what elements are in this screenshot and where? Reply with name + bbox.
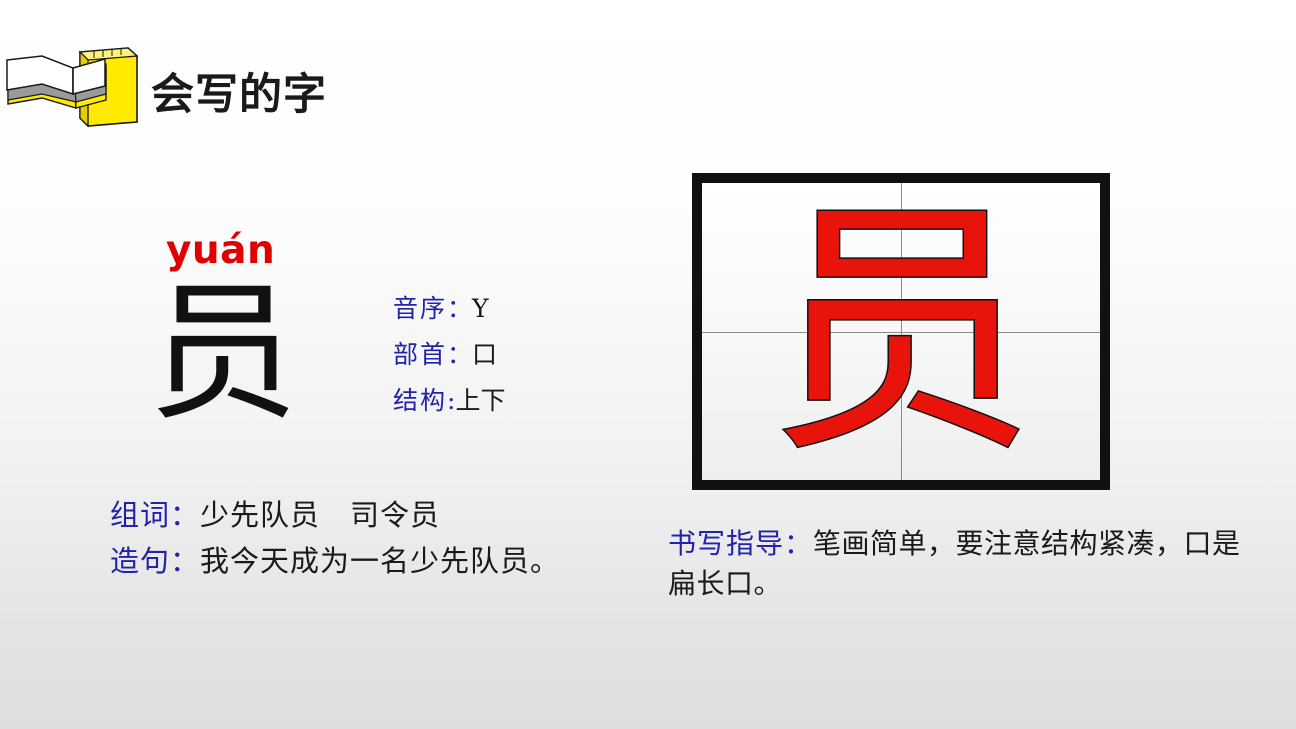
meta-colon-yinxu: ： (447, 294, 472, 323)
writing-guidance-label: 书写指导： (668, 527, 813, 560)
phrase-row-zaoju: 造句：我今天成为一名少先队员。 (110, 538, 670, 584)
display-character: 员 (148, 279, 288, 429)
meta-row-yinxu: 音序：Y (393, 286, 613, 332)
meta-value-bushou: 口 (472, 340, 497, 369)
meta-label-jiegou: 结构 (393, 386, 447, 415)
practice-character: 员 (702, 183, 1100, 480)
meta-label-bushou: 部首 (393, 340, 447, 369)
meta-label-yinxu: 音序 (393, 294, 447, 323)
meta-value-jiegou: 上下 (455, 386, 505, 415)
phrase-label-zuci: 组词： (110, 498, 200, 532)
practice-grid-inner: 员 (702, 183, 1100, 480)
character-meta-list: 音序：Y 部首：口 结构:上下 (393, 286, 613, 424)
meta-colon-bushou: ： (447, 340, 472, 369)
meta-row-bushou: 部首：口 (393, 332, 613, 378)
meta-value-yinxu: Y (472, 294, 489, 323)
open-book-icon (6, 44, 142, 136)
phrase-list: 组词：少先队员 司令员 造句：我今天成为一名少先队员。 (110, 492, 670, 584)
slide-canvas: 会写的字 yuán 员 音序：Y 部首：口 结构:上下 组词：少先队员 司令员 … (0, 0, 1296, 729)
slide-header: 会写的字 (0, 36, 420, 140)
meta-row-jiegou: 结构:上下 (393, 378, 613, 424)
phrase-text-zuci: 少先队员 司令员 (200, 498, 440, 532)
writing-guidance: 书写指导：笔画简单，要注意结构紧凑，口是扁长口。 (668, 524, 1268, 604)
phrase-text-zaoju: 我今天成为一名少先队员。 (200, 544, 560, 578)
phrase-row-zuci: 组词：少先队员 司令员 (110, 492, 670, 538)
page-title: 会写的字 (151, 60, 327, 122)
phrase-label-zaoju: 造句： (110, 544, 200, 578)
practice-grid-box: 员 (692, 173, 1110, 490)
